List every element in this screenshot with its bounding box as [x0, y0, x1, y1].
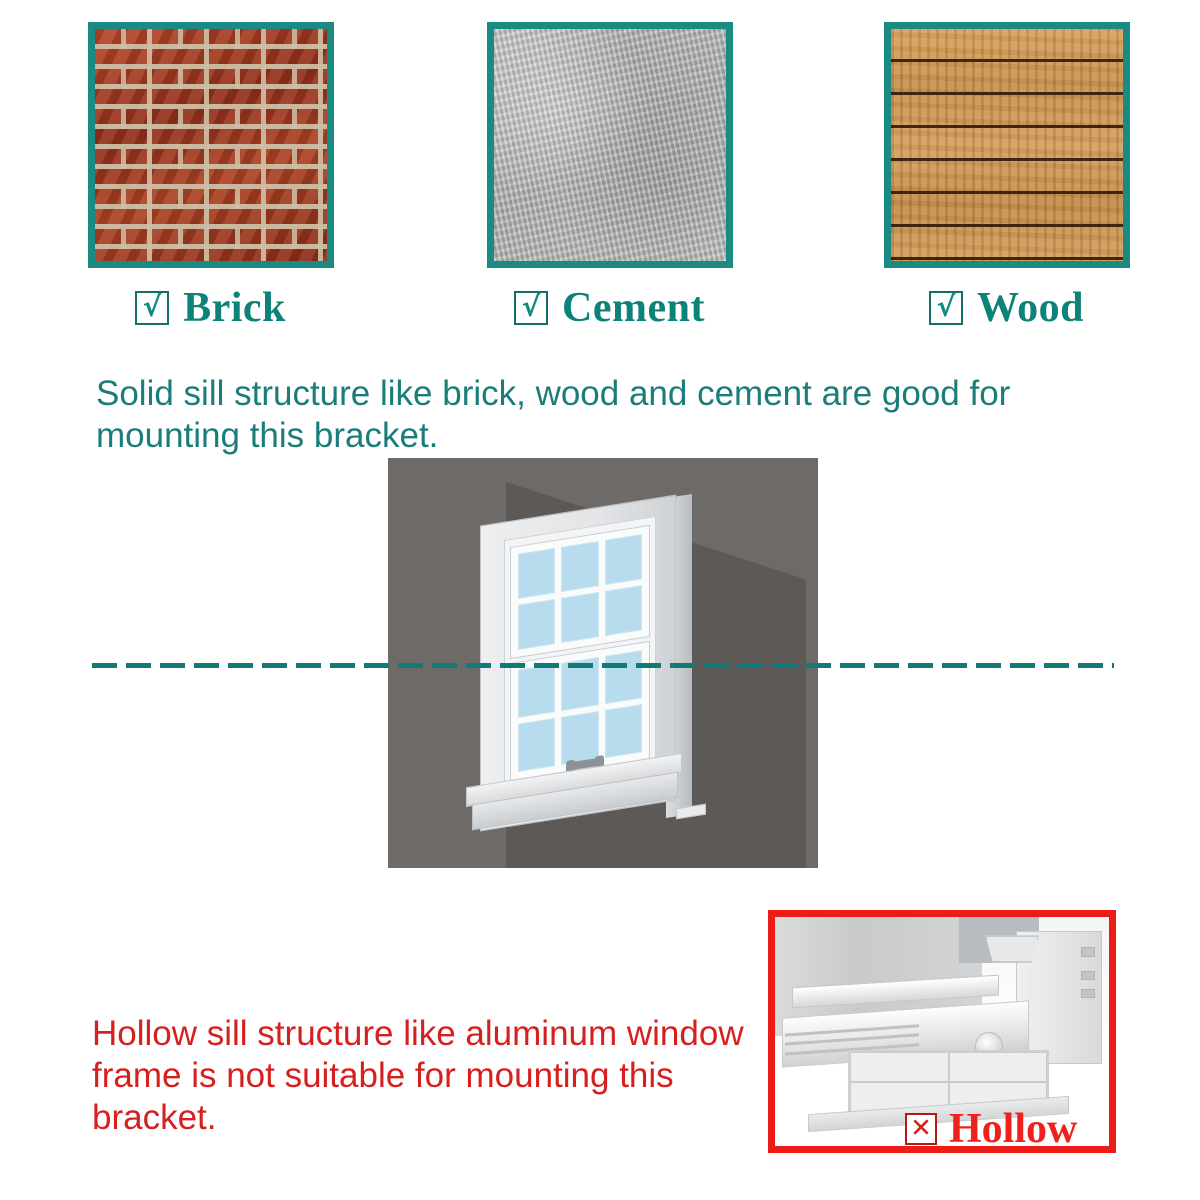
material-name-hollow: Hollow [949, 1108, 1077, 1150]
wood-swatch-frame [884, 22, 1130, 268]
brick-texture [95, 29, 327, 261]
brick-label-row: √ Brick [88, 282, 333, 334]
wood-label-row: √ Wood [884, 282, 1129, 334]
brick-swatch-frame [88, 22, 334, 268]
hollow-chamber-cell [850, 1052, 948, 1082]
close-icon: ✕ [910, 1115, 932, 1141]
material-name-wood: Wood [977, 287, 1084, 329]
wood-texture [891, 29, 1123, 261]
material-card-wood: √ Wood [884, 22, 1129, 334]
checkmark-box-brick: √ [135, 291, 169, 325]
window-pane [605, 585, 642, 636]
window-pane [561, 711, 598, 765]
window-graphic [480, 484, 700, 829]
window-pane [561, 541, 598, 592]
section-divider [92, 663, 1114, 668]
cement-swatch-frame [487, 22, 733, 268]
window-pane [518, 548, 555, 599]
cement-label-row: √ Cement [487, 282, 732, 334]
check-icon: √ [522, 293, 541, 321]
material-name-cement: Cement [562, 287, 705, 329]
hollow-chamber-cell [949, 1052, 1047, 1082]
cement-texture [494, 29, 726, 261]
window-pane [605, 534, 642, 585]
hollow-label-row: ✕ Hollow [905, 1108, 1077, 1150]
window-pane [518, 718, 555, 772]
checkmark-box-wood: √ [929, 291, 963, 325]
profile-slot [1081, 947, 1095, 956]
window-pane [561, 592, 598, 643]
material-card-cement: √ Cement [487, 22, 732, 334]
hollow-sill-warning: Hollow sill structure like aluminum wind… [92, 1013, 772, 1139]
checkmark-box-cement: √ [514, 291, 548, 325]
window-pane [518, 664, 555, 718]
cross-box-hollow: ✕ [905, 1113, 937, 1145]
profile-slot [1081, 971, 1095, 980]
window-pane [605, 704, 642, 758]
solid-sill-description: Solid sill structure like brick, wood an… [96, 373, 1126, 457]
material-name-brick: Brick [183, 287, 286, 329]
material-swatch-row: √ Brick √ Cement √ Wood [0, 0, 1200, 330]
check-icon: √ [937, 293, 956, 321]
check-icon: √ [143, 293, 162, 321]
window-pane [605, 650, 642, 704]
profile-slot [1081, 989, 1095, 998]
material-card-brick: √ Brick [88, 22, 333, 334]
profile-drain-notch [985, 935, 1038, 962]
window-pane [518, 599, 555, 650]
window-upper-sash [510, 525, 650, 659]
